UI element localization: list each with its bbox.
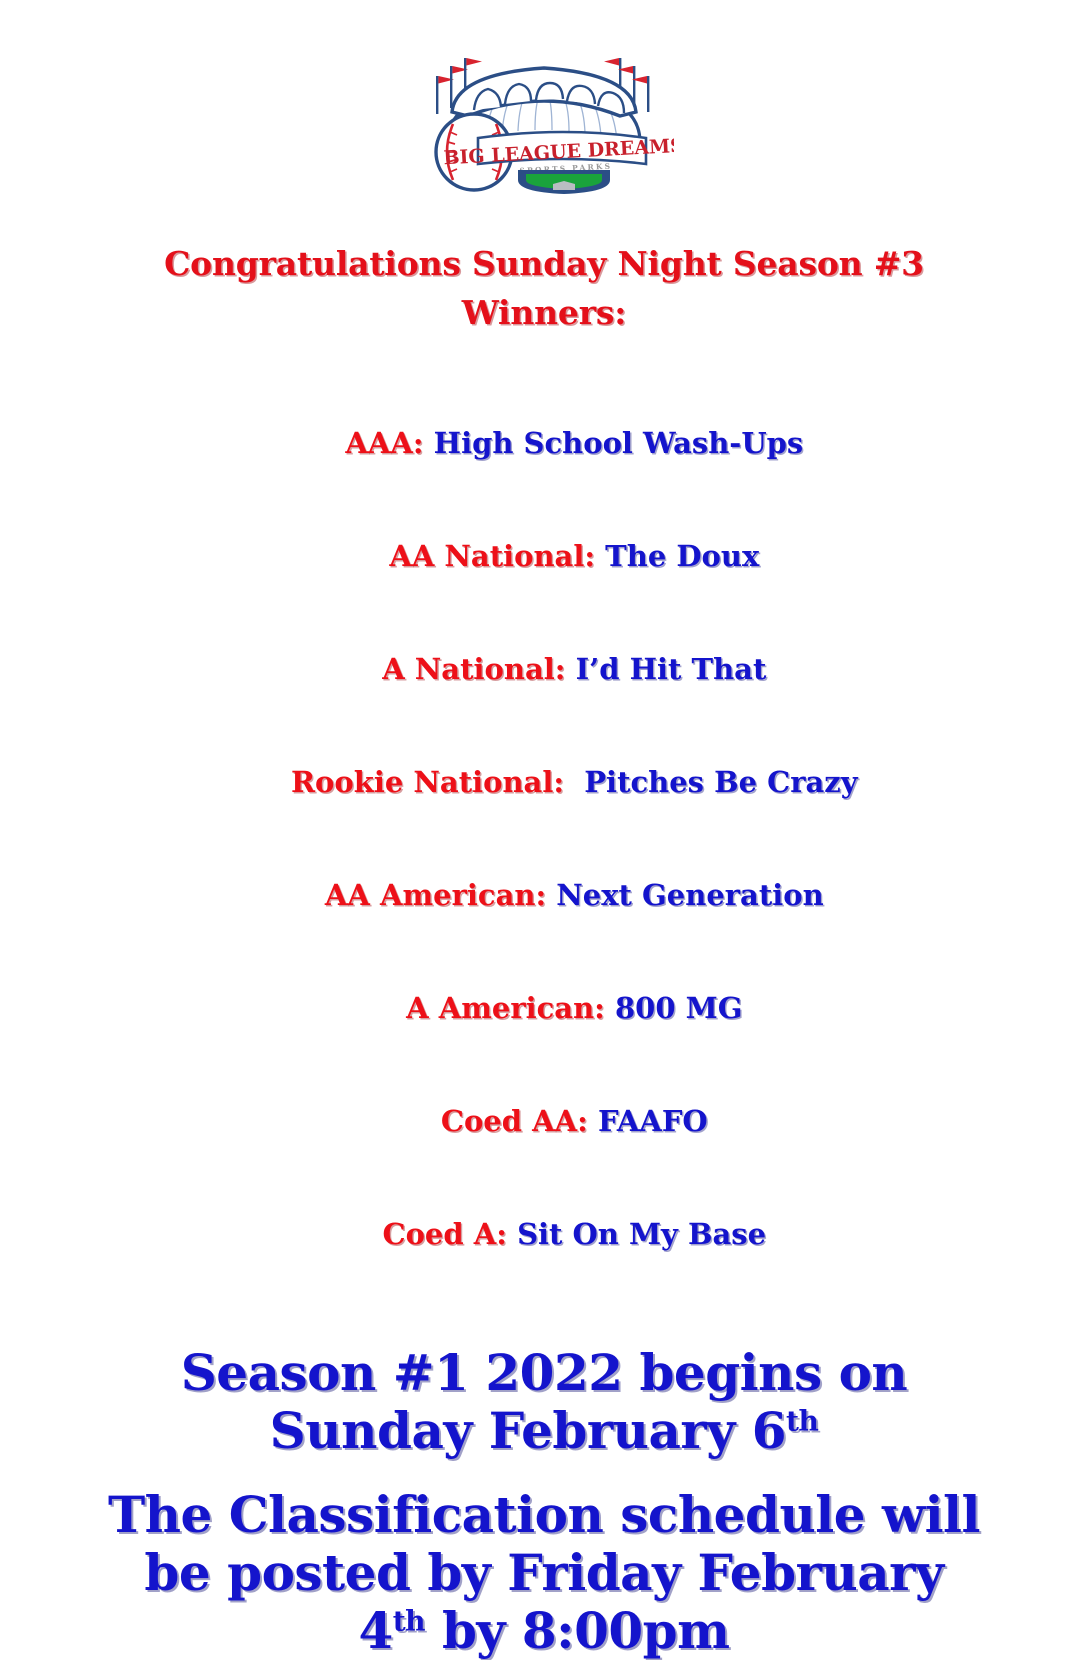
flyer-page: BIG LEAGUE DREAMS SPORTS PARKS Congratul…: [0, 0, 1088, 1408]
classification-time: by 8:00pm: [425, 1601, 730, 1660]
winner-row: Rookie National: Pitches Be Crazy: [230, 739, 857, 826]
headline-line-1: Congratulations Sunday Night Season #3: [134, 240, 954, 289]
winner-row: AAA: High School Wash-Ups: [285, 400, 803, 487]
season-start-ordinal: th: [786, 1404, 818, 1437]
winner-row: A National: I’d Hit That: [322, 626, 767, 713]
division-label: A National:: [382, 652, 565, 686]
team-name: Next Generation: [546, 878, 824, 912]
announcements: Season #1 2022 begins on Sunday February…: [104, 1344, 984, 1660]
winner-row: AA National: The Doux: [329, 513, 760, 600]
team-name: 800 MG: [605, 991, 743, 1025]
winner-row: Coed AA: FAAFO: [380, 1078, 707, 1165]
season-start-text: Season #1 2022 begins on Sunday February…: [181, 1343, 908, 1460]
winner-row: A American: 800 MG: [346, 965, 743, 1052]
winner-row: AA American: Next Generation: [264, 852, 823, 939]
big-league-dreams-logo: BIG LEAGUE DREAMS SPORTS PARKS: [414, 34, 674, 194]
division-label: Coed A:: [382, 1217, 506, 1251]
team-name: Sit On My Base: [507, 1217, 766, 1251]
classification-ordinal: th: [393, 1604, 425, 1637]
division-label: AA National:: [389, 539, 595, 573]
division-label: Coed AA:: [441, 1104, 588, 1138]
team-name: The Doux: [595, 539, 759, 573]
team-name: High School Wash-Ups: [424, 426, 804, 460]
classification-announcement: The Classification schedule will be post…: [104, 1486, 984, 1660]
season-start-announcement: Season #1 2022 begins on Sunday February…: [104, 1344, 984, 1460]
division-label: AAA:: [345, 426, 423, 460]
division-label: A American:: [406, 991, 605, 1025]
team-name: Pitches Be Crazy: [564, 765, 858, 799]
division-label: Rookie National:: [291, 765, 564, 799]
headline-line-2: Winners:: [134, 289, 954, 338]
winners-list: AAA: High School Wash-Ups AA National: T…: [94, 400, 994, 1278]
logo-graphic: BIG LEAGUE DREAMS SPORTS PARKS: [414, 34, 674, 194]
winner-row: Coed A: Sit On My Base: [322, 1191, 766, 1278]
page-title: Congratulations Sunday Night Season #3 W…: [134, 240, 954, 338]
team-name: FAAFO: [588, 1104, 708, 1138]
division-label: AA American:: [325, 878, 546, 912]
team-name: I’d Hit That: [565, 652, 766, 686]
baseball-diamond-shield-icon: [518, 170, 610, 194]
